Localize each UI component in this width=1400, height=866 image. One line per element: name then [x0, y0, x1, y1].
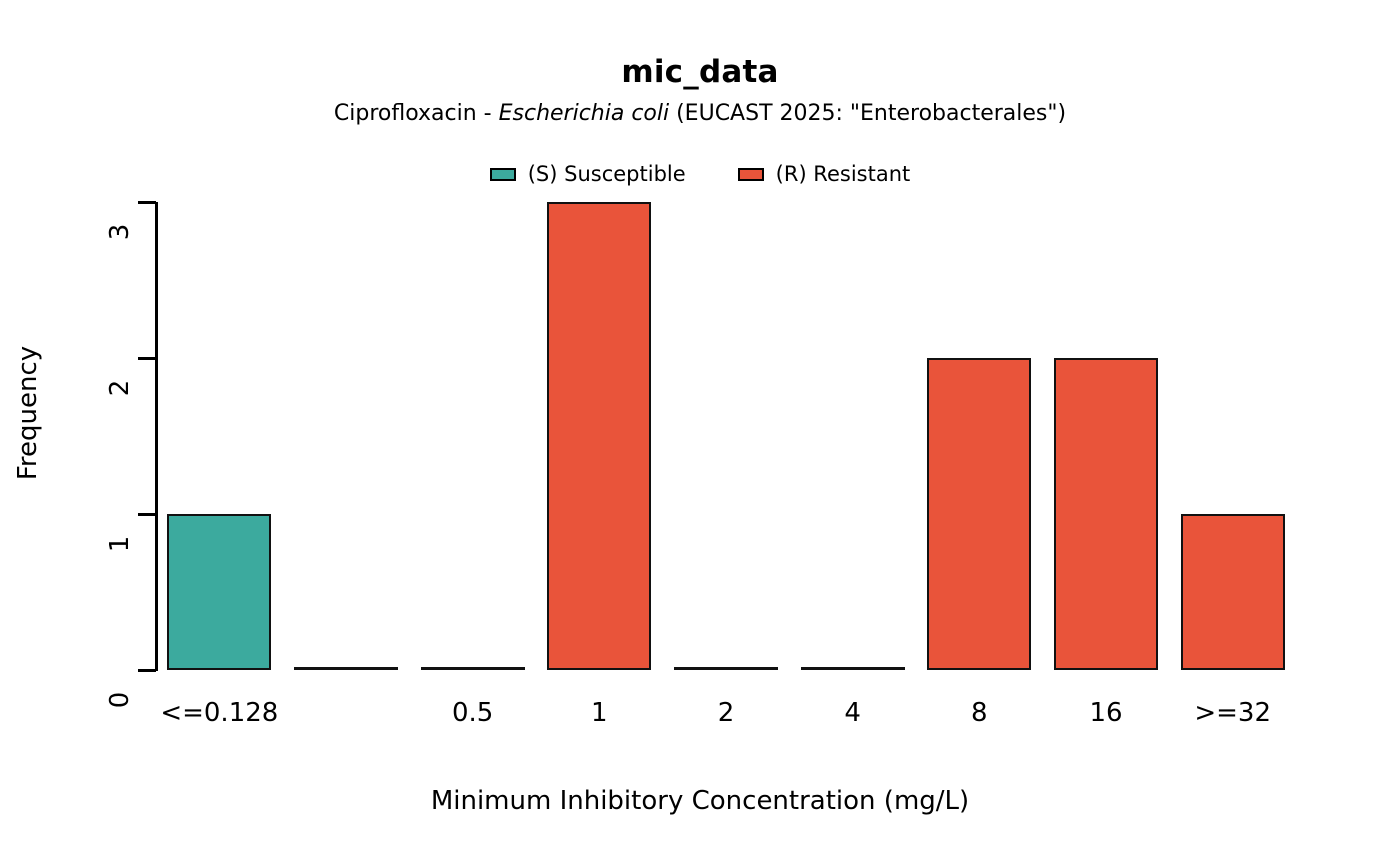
- legend-label-susceptible: (S) Susceptible: [528, 164, 686, 185]
- y-tick-label: 2: [107, 358, 133, 418]
- x-tick-label: <=0.128: [160, 700, 278, 726]
- y-tick-mark: [138, 513, 156, 516]
- subtitle-guideline: (EUCAST 2025: "Enterobacterales"): [669, 101, 1066, 126]
- y-tick-label: 1: [107, 514, 133, 574]
- bar-32[interactable]: [1181, 514, 1285, 670]
- bar-16[interactable]: [1054, 358, 1158, 670]
- legend-item-resistant[interactable]: (R) Resistant: [738, 160, 911, 188]
- x-axis-title: Minimum Inhibitory Concentration (mg/L): [0, 788, 1400, 814]
- y-axis-title: Frequency: [15, 313, 41, 513]
- mic-histogram-plot: mic_data Ciprofloxacin - Escherichia col…: [0, 0, 1400, 866]
- chart-title: mic_data: [0, 57, 1400, 88]
- subtitle-organism: Escherichia coli: [499, 101, 670, 126]
- x-tick-label: 16: [1089, 700, 1122, 726]
- legend-swatch-susceptible: [490, 168, 516, 181]
- bar-025[interactable]: [294, 667, 398, 670]
- bar-1[interactable]: [547, 202, 651, 670]
- y-tick-label: 3: [107, 202, 133, 262]
- bar-2[interactable]: [674, 667, 778, 670]
- y-tick-label: 0: [107, 670, 133, 730]
- plot-area: [156, 202, 1296, 670]
- bar-05[interactable]: [421, 667, 525, 670]
- chart-legend: (S) Susceptible (R) Resistant: [0, 160, 1400, 188]
- x-tick-label: 8: [971, 700, 988, 726]
- x-tick-label: 1: [591, 700, 608, 726]
- legend-label-resistant: (R) Resistant: [776, 164, 911, 185]
- bar-4[interactable]: [801, 667, 905, 670]
- y-tick-mark: [138, 201, 156, 204]
- x-tick-label: 2: [718, 700, 735, 726]
- bar-0128[interactable]: [167, 514, 271, 670]
- legend-swatch-resistant: [738, 168, 764, 181]
- x-tick-label: 4: [844, 700, 861, 726]
- x-tick-label: >=32: [1194, 700, 1271, 726]
- x-tick-label: 0.5: [452, 700, 493, 726]
- subtitle-antibiotic: Ciprofloxacin -: [334, 101, 499, 126]
- legend-item-susceptible[interactable]: (S) Susceptible: [490, 160, 686, 188]
- y-tick-mark: [138, 357, 156, 360]
- chart-subtitle: Ciprofloxacin - Escherichia coli (EUCAST…: [0, 103, 1400, 125]
- y-tick-mark: [138, 669, 156, 672]
- bar-8[interactable]: [927, 358, 1031, 670]
